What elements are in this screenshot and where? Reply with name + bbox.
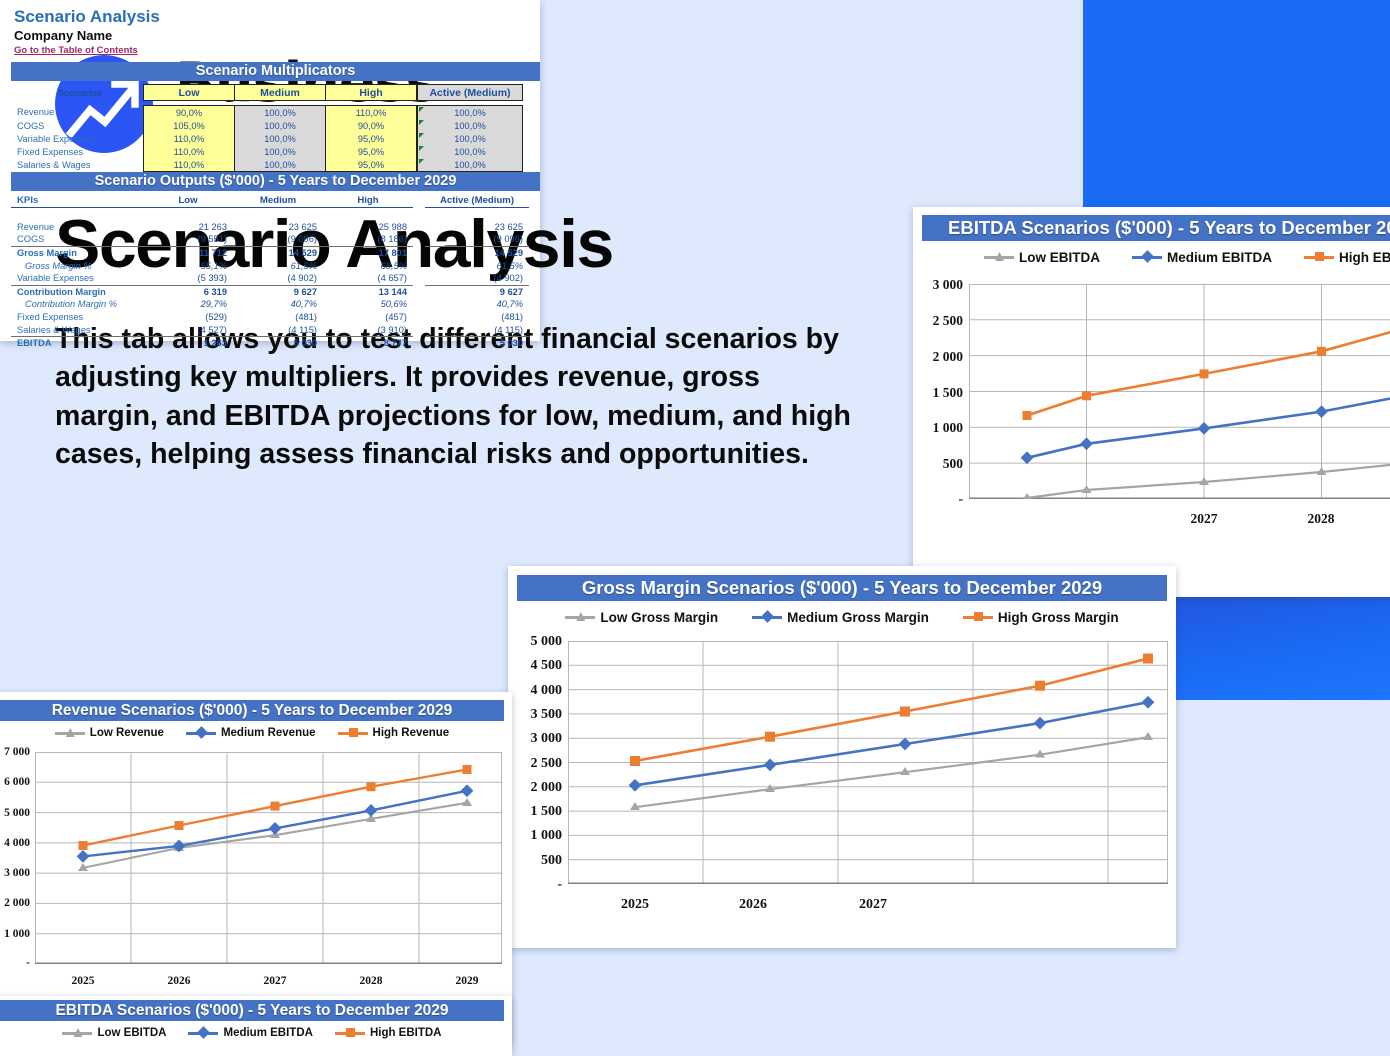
cell-medium[interactable]: 100,0%: [235, 106, 326, 120]
column-header-medium: Medium: [233, 193, 323, 208]
row-label: Variable Expenses: [11, 132, 144, 145]
chart-panel-gross-margin: Gross Margin Scenarios ($'000) - 5 Years…: [508, 566, 1176, 948]
y-tick: 7 000: [0, 746, 30, 758]
row-label: Gross Margin: [11, 246, 143, 259]
band-scenario-multiplicators: Scenario Multiplicators: [11, 62, 540, 81]
cell-medium: 14 529: [233, 246, 323, 259]
row-label: COGS: [11, 233, 143, 246]
cell-active: 40,7%: [425, 298, 529, 311]
chart-panel-ebitda-top: EBITDA Scenarios ($'000) - 5 Years to De…: [913, 207, 1390, 597]
chart-legend-revenue: Low Revenue Medium Revenue High Revenue: [0, 725, 504, 741]
y-tick: 2 000: [508, 780, 562, 796]
y-tick: 4 000: [508, 683, 562, 699]
chart-plot-gross-margin: [568, 641, 1168, 884]
chart-title-ebitda-bottom: EBITDA Scenarios ($'000) - 5 Years to De…: [0, 1000, 504, 1021]
row-label: Revenue: [11, 106, 144, 120]
cell-active: 14 529: [425, 246, 529, 259]
legend-marker-diamond-icon: [1132, 252, 1162, 262]
cell-medium[interactable]: 100,0%: [235, 158, 326, 172]
cell-high: 13 144: [323, 285, 413, 298]
chart-legend-ebitda-top: Low EBITDA Medium EBITDA High EBITDA: [922, 247, 1390, 267]
legend-item-high: High EBITDA: [1304, 250, 1390, 265]
row-header-label: Scenarios: [11, 85, 144, 101]
cell-active: (481): [425, 311, 529, 324]
legend-item-low: Low Revenue: [55, 727, 164, 739]
chart-title-ebitda-top: EBITDA Scenarios ($'000) - 5 Years to De…: [922, 215, 1390, 241]
cell-low[interactable]: 110,0%: [144, 158, 235, 172]
spacer-row: [11, 208, 529, 221]
cell-medium: 23 625: [233, 221, 323, 234]
y-tick: 3 000: [0, 867, 30, 879]
cell-low: (9 551): [143, 233, 233, 246]
legend-marker-diamond-icon: [188, 1028, 218, 1038]
x-tick: 2027: [833, 897, 913, 913]
table-row: Gross Margin 11 712 14 529 17 801 14 529: [11, 246, 529, 259]
cell-high[interactable]: 95,0%: [326, 132, 417, 145]
sheet-header: Scenario Analysis Company Name Go to the…: [14, 8, 160, 56]
y-tick: 2 500: [913, 313, 963, 329]
cell-low[interactable]: 110,0%: [144, 145, 235, 158]
legend-label: Low EBITDA: [1019, 250, 1100, 265]
legend-item-medium: Medium EBITDA: [188, 1027, 312, 1039]
cell-high: 50,6%: [323, 298, 413, 311]
cell-low: (4 527): [143, 323, 233, 336]
cell-active: 61,5%: [425, 259, 529, 272]
cell-medium: (4 902): [233, 272, 323, 285]
legend-marker-square-icon: [338, 728, 368, 738]
cell-high: (8 186): [323, 233, 413, 246]
legend-marker-diamond-icon: [752, 612, 782, 622]
table-row: Contribution Margin % 29,7% 40,7% 50,6% …: [11, 298, 529, 311]
legend-marker-square-icon: [963, 612, 993, 622]
company-name: Company Name: [14, 28, 160, 44]
cell-medium: (481): [233, 311, 323, 324]
table-row: Variable Expenses (5 393) (4 902) (4 657…: [11, 272, 529, 285]
cell-medium[interactable]: 100,0%: [235, 145, 326, 158]
legend-label: High Gross Margin: [998, 610, 1119, 625]
table-row: Revenue 21 263 23 625 25 988 23 625: [11, 221, 529, 234]
column-header-medium[interactable]: Medium: [235, 85, 326, 101]
legend-marker-square-icon: [1304, 252, 1334, 262]
legend-item-low: Low EBITDA: [62, 1027, 166, 1039]
x-tick: 2025: [595, 897, 675, 913]
table-row: COGS (9 551) (9 096) (8 186) (9 096): [11, 233, 529, 246]
legend-item-low: Low Gross Margin: [565, 610, 718, 625]
y-tick: 1 000: [0, 928, 30, 940]
cell-active: (4 115): [425, 323, 529, 336]
cell-active: (4 902): [425, 272, 529, 285]
chart-plot-ebitda-top: [969, 284, 1390, 499]
cell-active: 100,0%: [418, 106, 523, 120]
decorative-blue-block-middle: [1170, 590, 1390, 700]
x-tick: 2028: [336, 975, 406, 987]
cell-active: 100,0%: [418, 119, 523, 132]
x-tick: 2027: [240, 975, 310, 987]
cell-high: 68,5%: [323, 259, 413, 272]
y-tick: 4 000: [0, 837, 30, 849]
y-tick: 1 500: [508, 804, 562, 820]
cell-medium: (9 096): [233, 233, 323, 246]
cell-high[interactable]: 95,0%: [326, 145, 417, 158]
cell-low: 11 712: [143, 246, 233, 259]
chart-panel-revenue: Revenue Scenarios ($'000) - 5 Years to D…: [0, 692, 512, 1043]
cell-active: 100,0%: [418, 132, 523, 145]
y-tick: 6 000: [0, 776, 30, 788]
x-tick: 2025: [48, 975, 118, 987]
cell-active: 9 627: [425, 285, 529, 298]
x-tick: 2027: [1164, 511, 1244, 527]
row-label: EBITDA: [11, 336, 143, 341]
y-tick: 2 000: [0, 897, 30, 909]
cell-low[interactable]: 90,0%: [144, 106, 235, 120]
legend-item-low: Low EBITDA: [984, 250, 1100, 265]
column-header-active: Active (Medium): [425, 193, 529, 208]
cell-active: 100,0%: [418, 145, 523, 158]
y-tick: 3 000: [913, 277, 963, 293]
table-row: Gross Margin % 55,1% 61,5% 68,5% 61,5%: [11, 259, 529, 272]
spacer: [413, 246, 425, 259]
table-row: COGS 105,0% 100,0% 90,0% 100,0%: [11, 119, 523, 132]
y-tick: 500: [508, 853, 562, 869]
legend-marker-triangle-icon: [55, 728, 85, 738]
spacer: [413, 298, 425, 311]
legend-label: Low Revenue: [90, 727, 164, 739]
row-label: Fixed Expenses: [11, 145, 144, 158]
cell-active: 23 625: [425, 221, 529, 234]
cell-high: (3 910): [323, 323, 413, 336]
cell-high: 25 988: [323, 221, 413, 234]
table-row: Salaries & Wages 110,0% 100,0% 95,0% 100…: [11, 158, 523, 172]
legend-label: Low EBITDA: [97, 1027, 166, 1039]
cell-low: 1 263: [143, 336, 233, 341]
cell-medium[interactable]: 100,0%: [235, 119, 326, 132]
table-row-header: Scenarios Low Medium High Active (Medium…: [11, 85, 523, 101]
y-tick: 5 000: [0, 807, 30, 819]
legend-item-high: High EBITDA: [335, 1027, 442, 1039]
row-label: Fixed Expenses: [11, 311, 143, 324]
cell-low: (5 393): [143, 272, 233, 285]
cell-active: 100,0%: [418, 158, 523, 172]
y-tick: 2 000: [913, 349, 963, 365]
cell-low[interactable]: 110,0%: [144, 132, 235, 145]
legend-label: Medium EBITDA: [1167, 250, 1272, 265]
cell-medium: (4 115): [233, 323, 323, 336]
cell-medium: 61,5%: [233, 259, 323, 272]
y-tick: 3 500: [508, 707, 562, 723]
legend-label: Medium Gross Margin: [787, 610, 929, 625]
y-tick: -: [508, 877, 562, 893]
legend-marker-triangle-icon: [984, 252, 1014, 262]
cell-medium: 5 030: [233, 336, 323, 341]
sheet-title: Scenario Analysis: [14, 8, 160, 27]
spacer: [413, 193, 425, 208]
cell-low: 6 319: [143, 285, 233, 298]
legend-item-medium: Medium Revenue: [186, 727, 316, 739]
y-tick: 4 500: [508, 658, 562, 674]
column-header-low: Low: [143, 193, 233, 208]
chart-title-revenue: Revenue Scenarios ($'000) - 5 Years to D…: [0, 700, 504, 721]
cell-high: 8 777: [323, 336, 413, 341]
cell-active: 5 030: [425, 336, 529, 341]
chart-legend-gross-margin: Low Gross Margin Medium Gross Margin Hig…: [517, 607, 1167, 627]
legend-label: High EBITDA: [370, 1027, 442, 1039]
table-row: Revenue 90,0% 100,0% 110,0% 100,0%: [11, 106, 523, 120]
table-row: EBITDA 1 263 5 030 8 777 5 030: [11, 336, 529, 341]
chart-title-gross-margin: Gross Margin Scenarios ($'000) - 5 Years…: [517, 575, 1167, 601]
column-header-active: Active (Medium): [418, 85, 523, 101]
cell-high[interactable]: 110,0%: [326, 106, 417, 120]
cell-low: 55,1%: [143, 259, 233, 272]
chart-legend-ebitda-bottom: Low EBITDA Medium EBITDA High EBITDA: [0, 1025, 504, 1041]
cell-high[interactable]: 95,0%: [326, 158, 417, 172]
table-row: Variable Expenses 110,0% 100,0% 95,0% 10…: [11, 132, 523, 145]
legend-label: Low Gross Margin: [600, 610, 718, 625]
cell-medium[interactable]: 100,0%: [235, 132, 326, 145]
table-row-header: KPIs Low Medium High Active (Medium): [11, 193, 529, 208]
row-label: Contribution Margin: [11, 285, 143, 298]
cell-low: 21 263: [143, 221, 233, 234]
spacer: [413, 233, 425, 246]
cell-low: (529): [143, 311, 233, 324]
chart-panel-ebitda-bottom: EBITDA Scenarios ($'000) - 5 Years to De…: [0, 996, 512, 1056]
cell-high: (4 657): [323, 272, 413, 285]
cell-high[interactable]: 90,0%: [326, 119, 417, 132]
y-tick: 5 000: [508, 634, 562, 650]
x-tick: 2026: [713, 897, 793, 913]
table-row: Fixed Expenses (529) (481) (457) (481): [11, 311, 529, 324]
spacer: [413, 221, 425, 234]
legend-label: High EBITDA: [1339, 250, 1390, 265]
decorative-blue-block-top: [1083, 0, 1390, 208]
cell-medium: 40,7%: [233, 298, 323, 311]
cell-high: 17 801: [323, 246, 413, 259]
legend-item-medium: Medium EBITDA: [1132, 250, 1272, 265]
spacer: [413, 311, 425, 324]
row-label: COGS: [11, 119, 144, 132]
y-tick: -: [913, 491, 963, 507]
table-scenario-multiplicators: Scenarios Low Medium High Active (Medium…: [11, 84, 523, 172]
cell-high: (457): [323, 311, 413, 324]
table-row: Fixed Expenses 110,0% 100,0% 95,0% 100,0…: [11, 145, 523, 158]
legend-marker-triangle-icon: [62, 1028, 92, 1038]
row-label: Revenue: [11, 221, 143, 234]
legend-label: Medium EBITDA: [223, 1027, 312, 1039]
legend-marker-triangle-icon: [565, 612, 595, 622]
y-tick: 1 000: [913, 420, 963, 436]
y-tick: 1 500: [913, 385, 963, 401]
cell-medium: 9 627: [233, 285, 323, 298]
y-tick: -: [0, 957, 30, 969]
spacer: [413, 336, 425, 341]
spacer: [413, 323, 425, 336]
row-label: Salaries & Wages: [11, 158, 144, 172]
column-header-high[interactable]: High: [326, 85, 417, 101]
cell-active: (9 096): [425, 233, 529, 246]
table-scenario-outputs: KPIs Low Medium High Active (Medium) Rev…: [11, 193, 529, 341]
legend-label: High Revenue: [373, 727, 450, 739]
table-of-contents-link[interactable]: Go to the Table of Contents: [14, 45, 160, 56]
spacer: [413, 272, 425, 285]
legend-item-high: High Gross Margin: [963, 610, 1119, 625]
chart-plot-revenue: [35, 752, 502, 964]
table-row: Contribution Margin 6 319 9 627 13 144 9…: [11, 285, 529, 298]
column-header-low[interactable]: Low: [144, 85, 235, 101]
y-tick: 2 500: [508, 756, 562, 772]
legend-label: Medium Revenue: [221, 727, 316, 739]
band-scenario-outputs: Scenario Outputs ($'000) - 5 Years to De…: [11, 172, 540, 191]
x-tick: 2026: [144, 975, 214, 987]
row-label: Gross Margin %: [11, 259, 143, 272]
cell-low[interactable]: 105,0%: [144, 119, 235, 132]
legend-marker-diamond-icon: [186, 728, 216, 738]
y-tick: 500: [913, 456, 963, 472]
spacer: [413, 285, 425, 298]
row-label: Contribution Margin %: [11, 298, 143, 311]
row-label: Variable Expenses: [11, 272, 143, 285]
y-tick: 3 000: [508, 731, 562, 747]
x-tick: 2028: [1281, 511, 1361, 527]
column-header-kpis: KPIs: [11, 193, 143, 208]
legend-item-high: High Revenue: [338, 727, 450, 739]
legend-marker-square-icon: [335, 1028, 365, 1038]
x-tick: 2029: [432, 975, 502, 987]
table-row: Salaries & Wages (4 527) (4 115) (3 910)…: [11, 323, 529, 336]
legend-item-medium: Medium Gross Margin: [752, 610, 929, 625]
y-tick: 1 000: [508, 828, 562, 844]
row-label: Salaries & Wages: [11, 323, 143, 336]
spacer: [413, 259, 425, 272]
column-header-high: High: [323, 193, 413, 208]
cell-low: 29,7%: [143, 298, 233, 311]
